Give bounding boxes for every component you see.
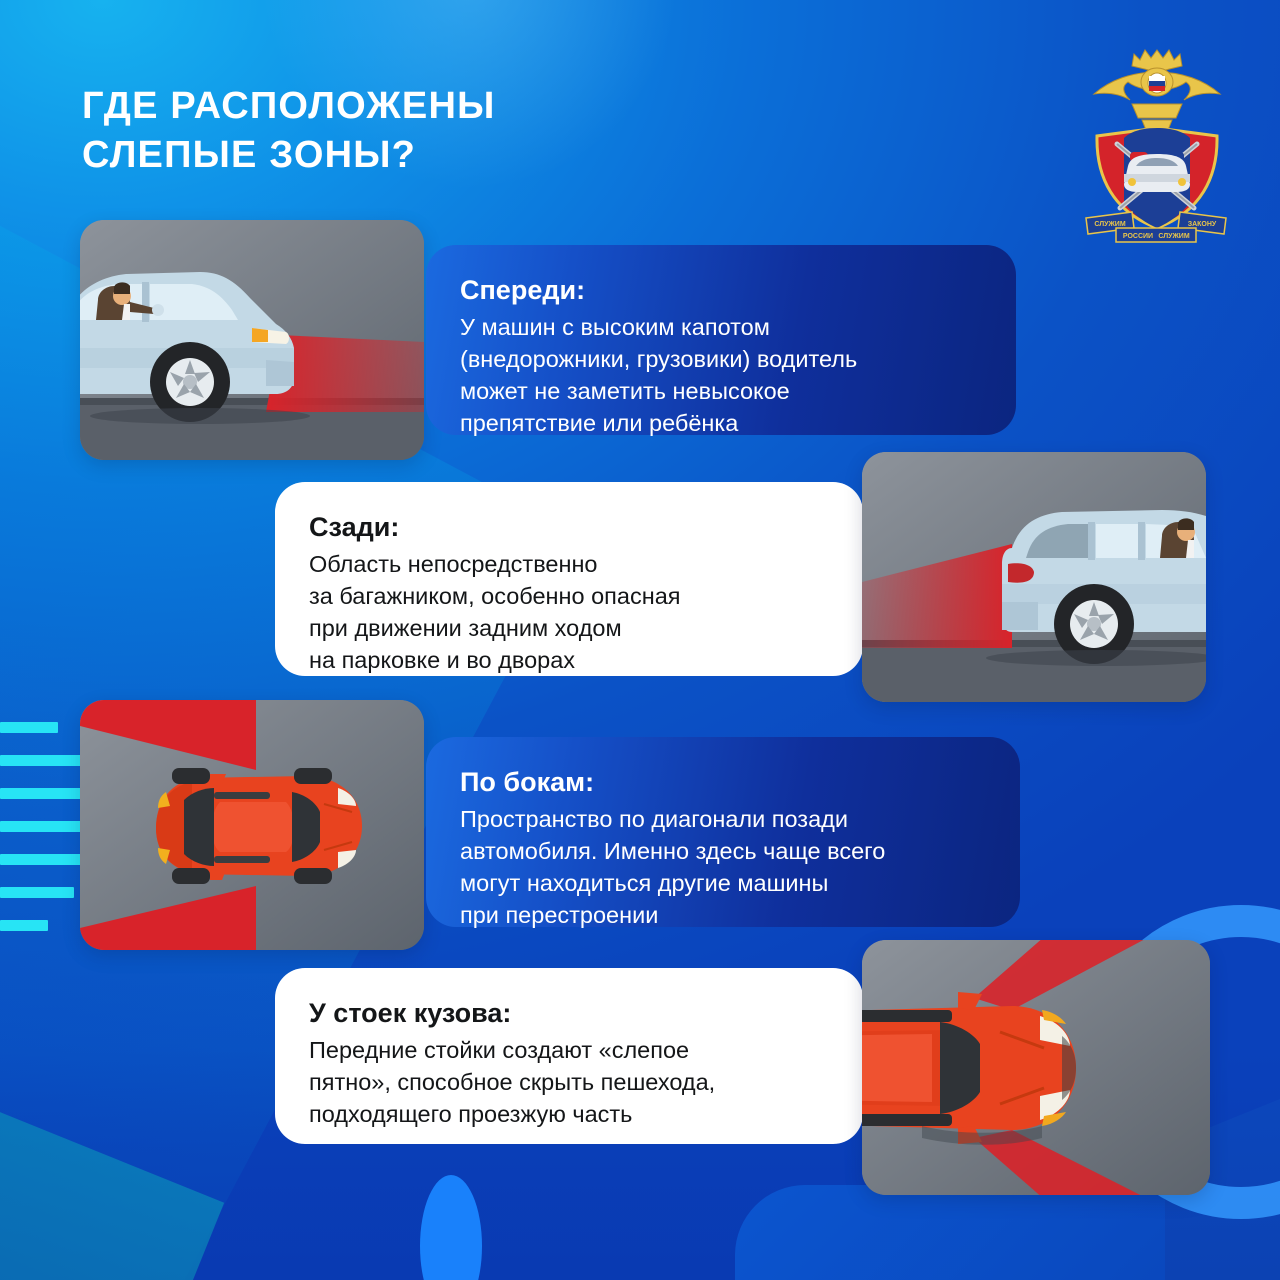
section-card-sides: По бокам: Пространство по диагонали поза… — [426, 737, 1020, 927]
car-rear-blind-zone-illustration — [862, 452, 1206, 702]
infographic-poster: ГДЕ РАСПОЛОЖЕНЫ СЛЕПЫЕ ЗОНЫ? — [0, 0, 1280, 1280]
section-card-front: Спереди: У машин с высоким капотом (внед… — [426, 245, 1016, 435]
left-dash-decoration — [0, 722, 92, 953]
page-title: ГДЕ РАСПОЛОЖЕНЫ СЛЕПЫЕ ЗОНЫ? — [82, 82, 496, 179]
ribbon-word-4: ЗАКОНУ — [1188, 221, 1217, 228]
page-title-line-1: ГДЕ РАСПОЛОЖЕНЫ — [82, 82, 496, 131]
section-body-rear: Область непосредственно за багажником, о… — [309, 549, 829, 677]
ribbon-word-1: СЛУЖИМ — [1094, 221, 1126, 228]
section-heading-sides: По бокам: — [460, 765, 986, 800]
mvd-russia-emblem: СЛУЖИМ ЗАКОНУ РОССИИ СЛУЖИМ — [1072, 32, 1242, 247]
section-heading-rear: Сзади: — [309, 510, 829, 545]
car-side-blind-zone-illustration — [80, 700, 424, 950]
section-body-front: У машин с высоким капотом (внедорожники,… — [460, 312, 982, 440]
bottom-left-wedge-decoration — [0, 1079, 224, 1280]
section-heading-front: Спереди: — [460, 273, 982, 308]
ribbon-word-2: РОССИИ — [1123, 233, 1153, 240]
bottom-ellipse-decoration — [420, 1175, 482, 1280]
page-title-line-2: СЛЕПЫЕ ЗОНЫ? — [82, 131, 496, 180]
section-heading-pillars: У стоек кузова: — [309, 996, 829, 1031]
section-card-pillars: У стоек кузова: Передние стойки создают … — [275, 968, 863, 1144]
ribbon-word-3: СЛУЖИМ — [1158, 233, 1190, 240]
section-body-sides: Пространство по диагонали позади автомоб… — [460, 804, 986, 932]
section-body-pillars: Передние стойки создают «слепое пятно», … — [309, 1035, 829, 1131]
car-pillar-blind-zone-illustration — [862, 940, 1210, 1195]
bottom-right-blob-decoration — [735, 1185, 1165, 1280]
car-front-blind-zone-illustration — [80, 220, 424, 460]
section-card-rear: Сзади: Область непосредственно за багажн… — [275, 482, 863, 676]
